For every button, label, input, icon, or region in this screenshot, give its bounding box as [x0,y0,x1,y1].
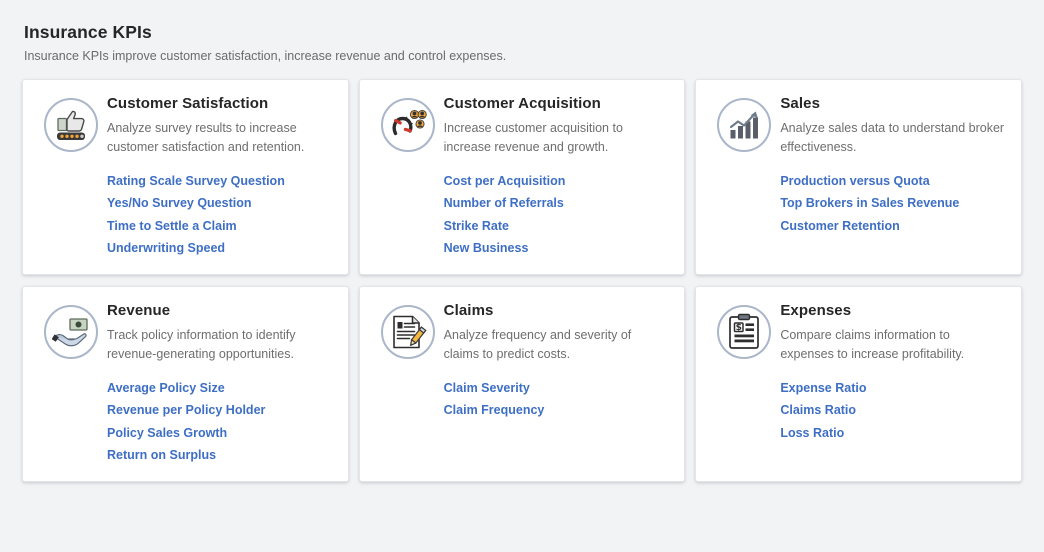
kpi-link-item: Customer Retention [780,217,1005,240]
kpi-link[interactable]: Claim Severity [444,379,530,402]
card-body: Customer Acquisition Increase customer a… [444,94,669,262]
card-icon-wrap: $ [708,301,780,359]
card-title: Revenue [107,302,332,320]
kpi-link-list: Rating Scale Survey Question Yes/No Surv… [107,172,332,262]
kpi-link[interactable]: Rating Scale Survey Question [107,172,285,195]
page-title: Insurance KPIs [24,22,1044,42]
kpi-link-item: Cost per Acquisition [444,172,669,195]
kpi-link-list: Average Policy Size Revenue per Policy H… [107,379,332,469]
kpi-link-item: Policy Sales Growth [107,424,332,447]
card-title: Customer Satisfaction [107,95,332,113]
card-body: Revenue Track policy information to iden… [107,301,332,469]
invoice-dollar-clipboard-icon: $ [725,313,763,351]
hand-holding-money-icon [44,305,98,359]
kpi-link-list: Production versus Quota Top Brokers in S… [780,172,1005,240]
kpi-link[interactable]: Claims Ratio [780,401,856,424]
kpi-link[interactable]: Yes/No Survey Question [107,194,252,217]
card-icon-wrap [708,94,780,152]
document-pencil-icon [381,305,435,359]
thumbs-up-rating-icon [52,106,90,144]
card-description: Compare claims information to expenses t… [780,326,1005,363]
card-icon-wrap [35,94,107,152]
card-body: Sales Analyze sales data to understand b… [780,94,1005,239]
svg-text:$: $ [736,323,742,333]
kpi-card: Customer Acquisition Increase customer a… [359,79,686,275]
kpi-card: Revenue Track policy information to iden… [22,286,349,482]
kpi-link[interactable]: Return on Surplus [107,446,216,469]
kpi-link[interactable]: New Business [444,239,529,262]
card-title: Expenses [780,302,1005,320]
kpi-link[interactable]: Loss Ratio [780,424,844,447]
kpi-link-list: Claim Severity Claim Frequency [444,379,669,424]
page-subtitle: Insurance KPIs improve customer satisfac… [24,49,1044,64]
page-header: Insurance KPIs Insurance KPIs improve cu… [0,0,1044,64]
card-description: Increase customer acquisition to increas… [444,119,669,156]
kpi-link-item: Rating Scale Survey Question [107,172,332,195]
card-icon-wrap [35,301,107,359]
card-body: Customer Satisfaction Analyze survey res… [107,94,332,262]
thumbs-up-rating-icon [44,98,98,152]
kpi-link[interactable]: Number of Referrals [444,194,564,217]
card-icon-wrap [372,94,444,152]
kpi-link-list: Expense Ratio Claims Ratio Loss Ratio [780,379,1005,447]
kpi-link-item: Strike Rate [444,217,669,240]
kpi-card: Claims Analyze frequency and severity of… [359,286,686,482]
hand-holding-money-icon [52,313,90,351]
kpi-link-item: Underwriting Speed [107,239,332,262]
card-icon-wrap [372,301,444,359]
card-description: Analyze frequency and severity of claims… [444,326,669,363]
bar-chart-growth-icon [717,98,771,152]
kpi-link[interactable]: Production versus Quota [780,172,929,195]
kpi-link-item: Production versus Quota [780,172,1005,195]
kpi-link[interactable]: Time to Settle a Claim [107,217,237,240]
kpi-link-item: Average Policy Size [107,379,332,402]
kpi-link-item: Return on Surplus [107,446,332,469]
card-description: Track policy information to identify rev… [107,326,332,363]
kpi-card: Sales Analyze sales data to understand b… [695,79,1022,275]
kpi-link-item: Top Brokers in Sales Revenue [780,194,1005,217]
kpi-card-grid: Customer Satisfaction Analyze survey res… [0,79,1044,482]
kpi-link[interactable]: Claim Frequency [444,401,545,424]
kpi-link[interactable]: Strike Rate [444,217,509,240]
kpi-link[interactable]: Top Brokers in Sales Revenue [780,194,959,217]
kpi-link-item: Number of Referrals [444,194,669,217]
bar-chart-growth-icon [725,106,763,144]
kpi-link-list: Cost per Acquisition Number of Referrals… [444,172,669,262]
card-description: Analyze sales data to understand broker … [780,119,1005,156]
card-description: Analyze survey results to increase custo… [107,119,332,156]
kpi-link-item: Claims Ratio [780,401,1005,424]
kpi-card: Customer Satisfaction Analyze survey res… [22,79,349,275]
kpi-link[interactable]: Expense Ratio [780,379,866,402]
card-title: Customer Acquisition [444,95,669,113]
kpi-link-item: Expense Ratio [780,379,1005,402]
kpi-link-item: Claim Frequency [444,401,669,424]
kpi-link[interactable]: Revenue per Policy Holder [107,401,265,424]
kpi-link-item: Loss Ratio [780,424,1005,447]
kpi-link[interactable]: Average Policy Size [107,379,225,402]
document-pencil-icon [389,313,427,351]
kpi-link-item: Yes/No Survey Question [107,194,332,217]
kpi-link[interactable]: Underwriting Speed [107,239,225,262]
card-title: Claims [444,302,669,320]
insurance-kpis-page: Insurance KPIs Insurance KPIs improve cu… [0,0,1044,552]
card-body: Claims Analyze frequency and severity of… [444,301,669,424]
kpi-link-item: Revenue per Policy Holder [107,401,332,424]
card-title: Sales [780,95,1005,113]
kpi-card: $ Expenses Compare claims information to… [695,286,1022,482]
kpi-link[interactable]: Customer Retention [780,217,899,240]
card-body: Expenses Compare claims information to e… [780,301,1005,446]
kpi-link[interactable]: Cost per Acquisition [444,172,566,195]
kpi-link-item: Claim Severity [444,379,669,402]
magnet-attracting-customers-icon [381,98,435,152]
kpi-link[interactable]: Policy Sales Growth [107,424,227,447]
kpi-link-item: Time to Settle a Claim [107,217,332,240]
magnet-attracting-customers-icon [389,106,427,144]
invoice-dollar-clipboard-icon: $ [717,305,771,359]
kpi-link-item: New Business [444,239,669,262]
